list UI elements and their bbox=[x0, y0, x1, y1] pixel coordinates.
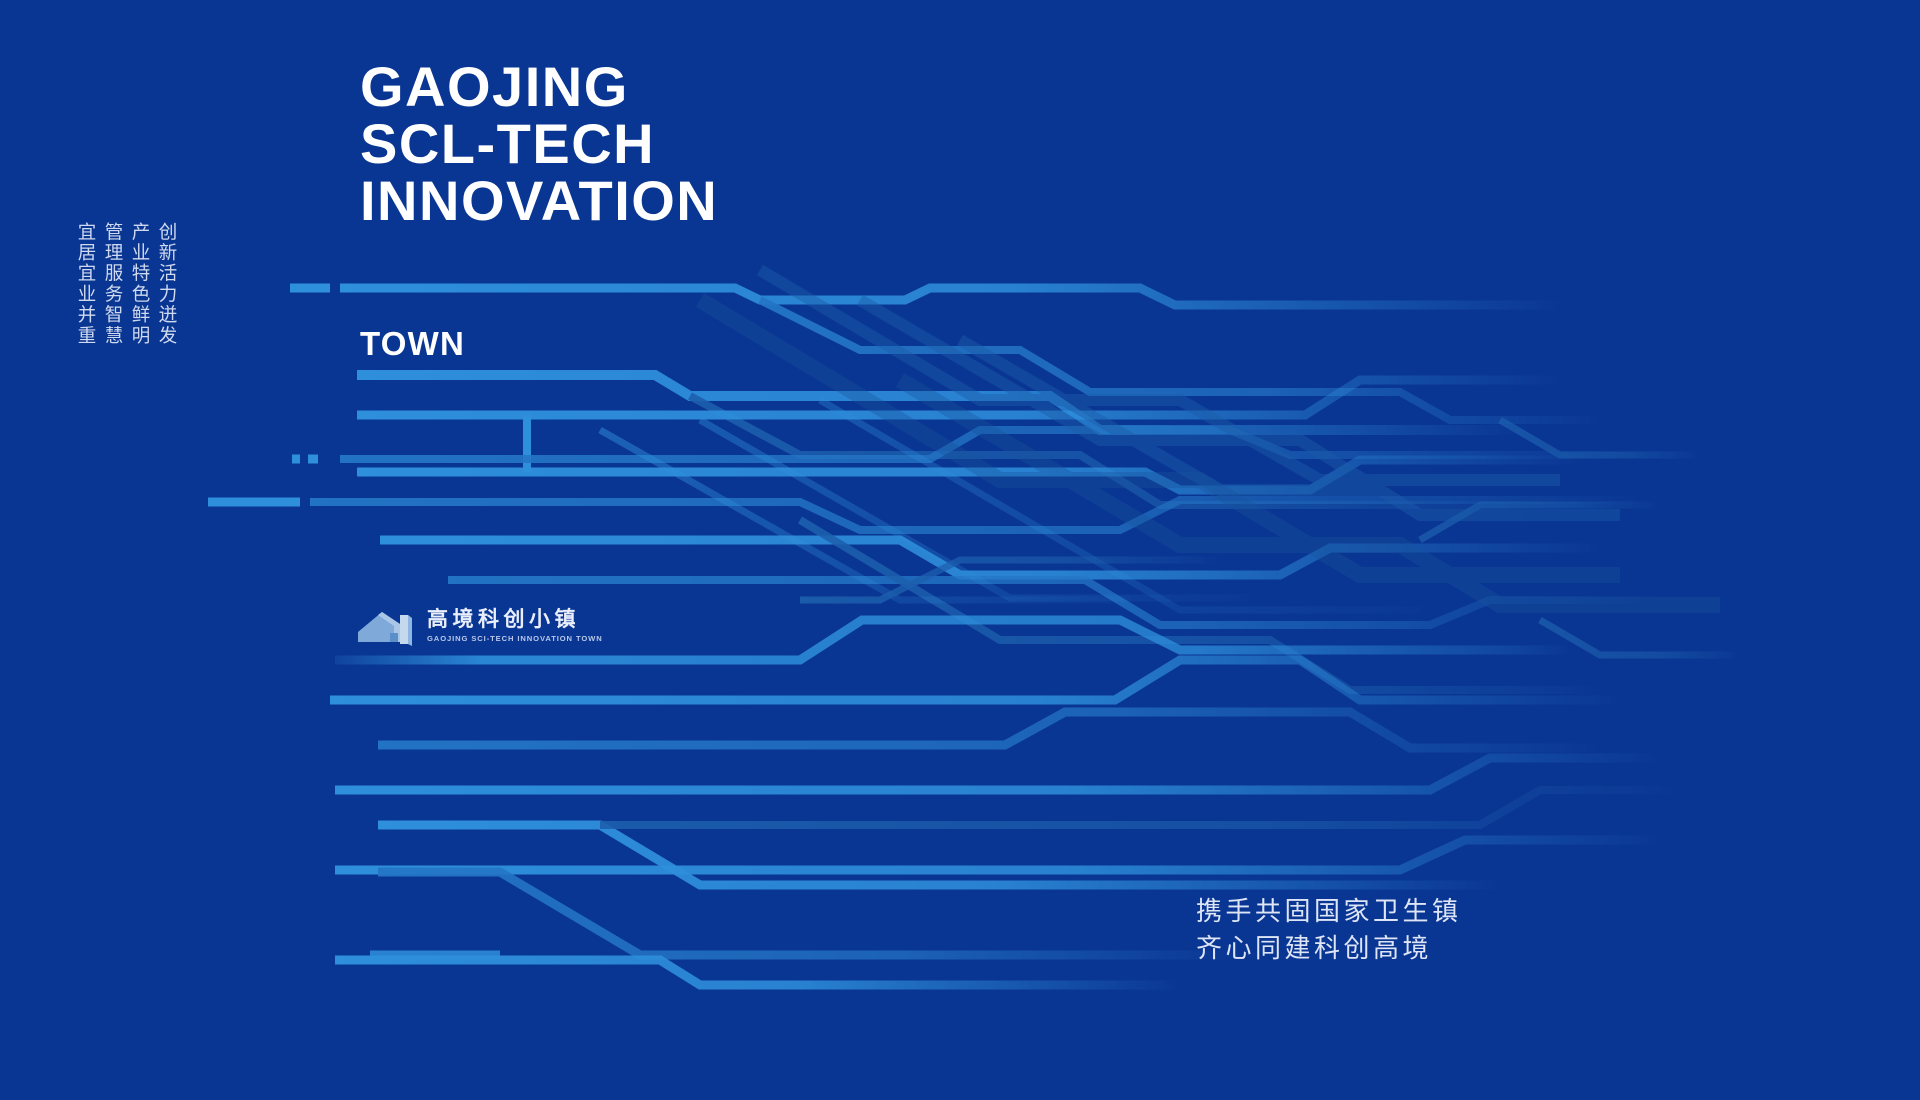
bottom-slogan-line-1: 携手共固国家卫生镇 bbox=[1196, 894, 1462, 931]
headline-line-4-town: TOWN bbox=[360, 325, 465, 363]
bottom-slogan-block: 携手共固国家卫生镇 齐心同建科创高境 bbox=[1196, 894, 1462, 968]
logo-name-cn: 高境科创小镇 bbox=[427, 607, 603, 631]
brand-logo: 高境科创小镇 GAOJING SCI-TECH INNOVATION TOWN bbox=[356, 602, 603, 648]
vertical-slogan-col-2: 产业特色鲜明 bbox=[126, 222, 148, 402]
vertical-slogan-col-4: 宜居宜业并重 bbox=[72, 222, 94, 402]
vertical-slogan-col-3: 管理服务智慧 bbox=[99, 222, 121, 402]
bottom-slogan-line-2: 齐心同建科创高境 bbox=[1196, 931, 1462, 968]
poster-canvas: GAOJING SCL-TECH INNOVATION TOWN 创新活力迸发 … bbox=[0, 0, 1920, 1100]
headline-line-1: GAOJING bbox=[360, 58, 1120, 115]
dash-marks bbox=[208, 288, 330, 502]
vertical-slogan-col-1: 创新活力迸发 bbox=[153, 222, 175, 402]
headline-line-3: INNOVATION bbox=[360, 172, 1120, 229]
house-building-icon bbox=[356, 602, 418, 648]
logo-name-en: GAOJING SCI-TECH INNOVATION TOWN bbox=[427, 634, 603, 643]
page-title: GAOJING SCL-TECH INNOVATION bbox=[360, 58, 1120, 229]
vertical-slogan-block: 创新活力迸发 产业特色鲜明 管理服务智慧 宜居宜业并重 bbox=[72, 222, 175, 402]
headline-line-2: SCL-TECH bbox=[360, 115, 1120, 172]
logo-text-block: 高境科创小镇 GAOJING SCI-TECH INNOVATION TOWN bbox=[427, 607, 603, 643]
